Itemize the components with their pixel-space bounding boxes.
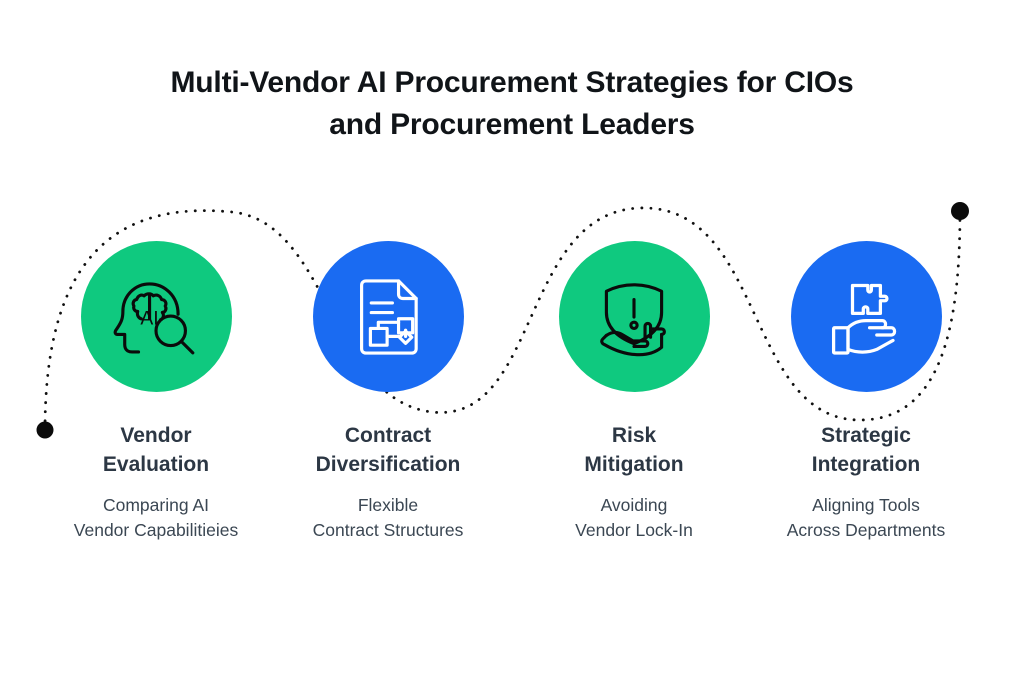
step-subtitle-4: Aligning Tools Across Departments (744, 493, 988, 543)
ai-head-analysis-icon: AI (110, 271, 202, 363)
step-item-vendor-evaluation[interactable]: AI Vendor Evaluation Comparing AI Vendor… (34, 241, 278, 543)
step-item-risk-mitigation[interactable]: Risk Mitigation Avoiding Vendor Lock-In (512, 241, 756, 543)
shield-alert-hand-icon (588, 271, 680, 363)
step-subtitle-2: Flexible Contract Structures (266, 493, 510, 543)
infographic-canvas: Multi-Vendor AI Procurement Strategies f… (0, 0, 1024, 683)
step-icon-circle-1: AI (81, 241, 232, 392)
step-subtitle-1: Comparing AI Vendor Capabilitieies (34, 493, 278, 543)
step-heading-4: Strategic Integration (744, 421, 988, 479)
step-heading-3: Risk Mitigation (512, 421, 756, 479)
step-icon-circle-4 (791, 241, 942, 392)
step-icon-circle-3 (559, 241, 710, 392)
step-subtitle-3: Avoiding Vendor Lock-In (512, 493, 756, 543)
document-flowchart-icon (344, 273, 432, 361)
puzzle-piece-hand-icon (821, 272, 911, 362)
step-icon-circle-2 (313, 241, 464, 392)
step-item-contract-diversification[interactable]: Contract Diversification Flexible Contra… (266, 241, 510, 543)
step-item-strategic-integration[interactable]: Strategic Integration Aligning Tools Acr… (744, 241, 988, 543)
steps-container: AI Vendor Evaluation Comparing AI Vendor… (0, 0, 1024, 683)
step-heading-1: Vendor Evaluation (34, 421, 278, 479)
step-heading-2: Contract Diversification (266, 421, 510, 479)
